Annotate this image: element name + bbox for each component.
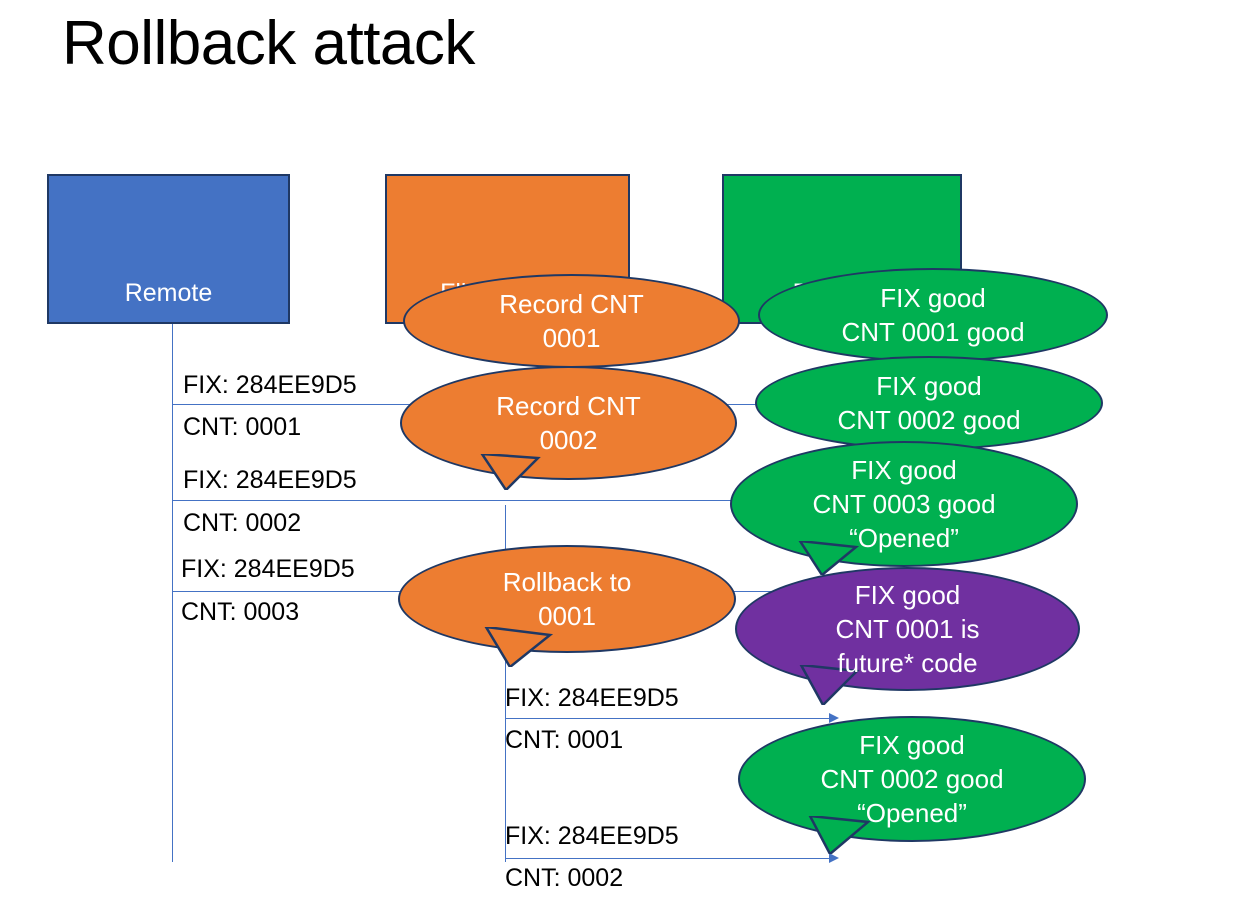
message-label-m5-fix: FIX: 284EE9D5 bbox=[505, 822, 679, 852]
speech-bubble-shape bbox=[403, 274, 740, 368]
speech-bubble-shape bbox=[398, 545, 736, 653]
speech-bubble-receiver-3[interactable]: FIX good CNT 0003 good “Opened” bbox=[730, 441, 1078, 567]
speech-bubble-shape bbox=[400, 366, 737, 480]
speech-bubble-shape bbox=[758, 268, 1108, 362]
message-label-m3-cnt: CNT: 0003 bbox=[181, 598, 299, 628]
speech-bubble-receiver-2[interactable]: FIX good CNT 0002 good bbox=[755, 356, 1103, 450]
message-label-m5-cnt: CNT: 0002 bbox=[505, 864, 623, 894]
message-label-m2-fix: FIX: 284EE9D5 bbox=[183, 466, 357, 496]
actor-label-remote: Remote bbox=[125, 279, 213, 308]
message-line-m5 bbox=[505, 858, 835, 859]
speech-bubble-receiver-1[interactable]: FIX good CNT 0001 good bbox=[758, 268, 1108, 362]
speech-bubble-flipper-2[interactable]: Record CNT 0002 bbox=[400, 366, 737, 480]
speech-bubble-receiver-5[interactable]: FIX good CNT 0002 good “Opened” bbox=[738, 716, 1086, 842]
speech-bubble-tail bbox=[478, 627, 558, 667]
speech-bubble-receiver-4-warning[interactable]: FIX good CNT 0001 is future* code bbox=[735, 567, 1080, 691]
speech-bubble-shape bbox=[735, 567, 1080, 691]
speech-bubble-tail bbox=[804, 816, 878, 854]
message-label-m1-cnt: CNT: 0001 bbox=[183, 413, 301, 443]
speech-bubble-shape bbox=[738, 716, 1086, 842]
message-label-m4-fix: FIX: 284EE9D5 bbox=[505, 684, 679, 714]
speech-bubble-shape bbox=[730, 441, 1078, 567]
speech-bubble-flipper-3[interactable]: Rollback to 0001 bbox=[398, 545, 736, 653]
actor-box-remote[interactable]: Remote bbox=[47, 174, 290, 324]
speech-bubble-tail bbox=[476, 454, 546, 490]
message-arrowhead-m5 bbox=[829, 853, 839, 863]
page-title: Rollback attack bbox=[62, 10, 475, 78]
message-label-m1-fix: FIX: 284EE9D5 bbox=[183, 371, 357, 401]
speech-bubble-tail bbox=[795, 665, 867, 705]
speech-bubble-flipper-1[interactable]: Record CNT 0001 bbox=[403, 274, 740, 368]
slide-canvas: Rollback attack FIX: 284EE9D5 CNT: 0001 … bbox=[0, 0, 1233, 898]
speech-bubble-shape bbox=[755, 356, 1103, 450]
message-label-m4-cnt: CNT: 0001 bbox=[505, 726, 623, 756]
message-label-m3-fix: FIX: 284EE9D5 bbox=[181, 555, 355, 585]
message-label-m2-cnt: CNT: 0002 bbox=[183, 509, 301, 539]
